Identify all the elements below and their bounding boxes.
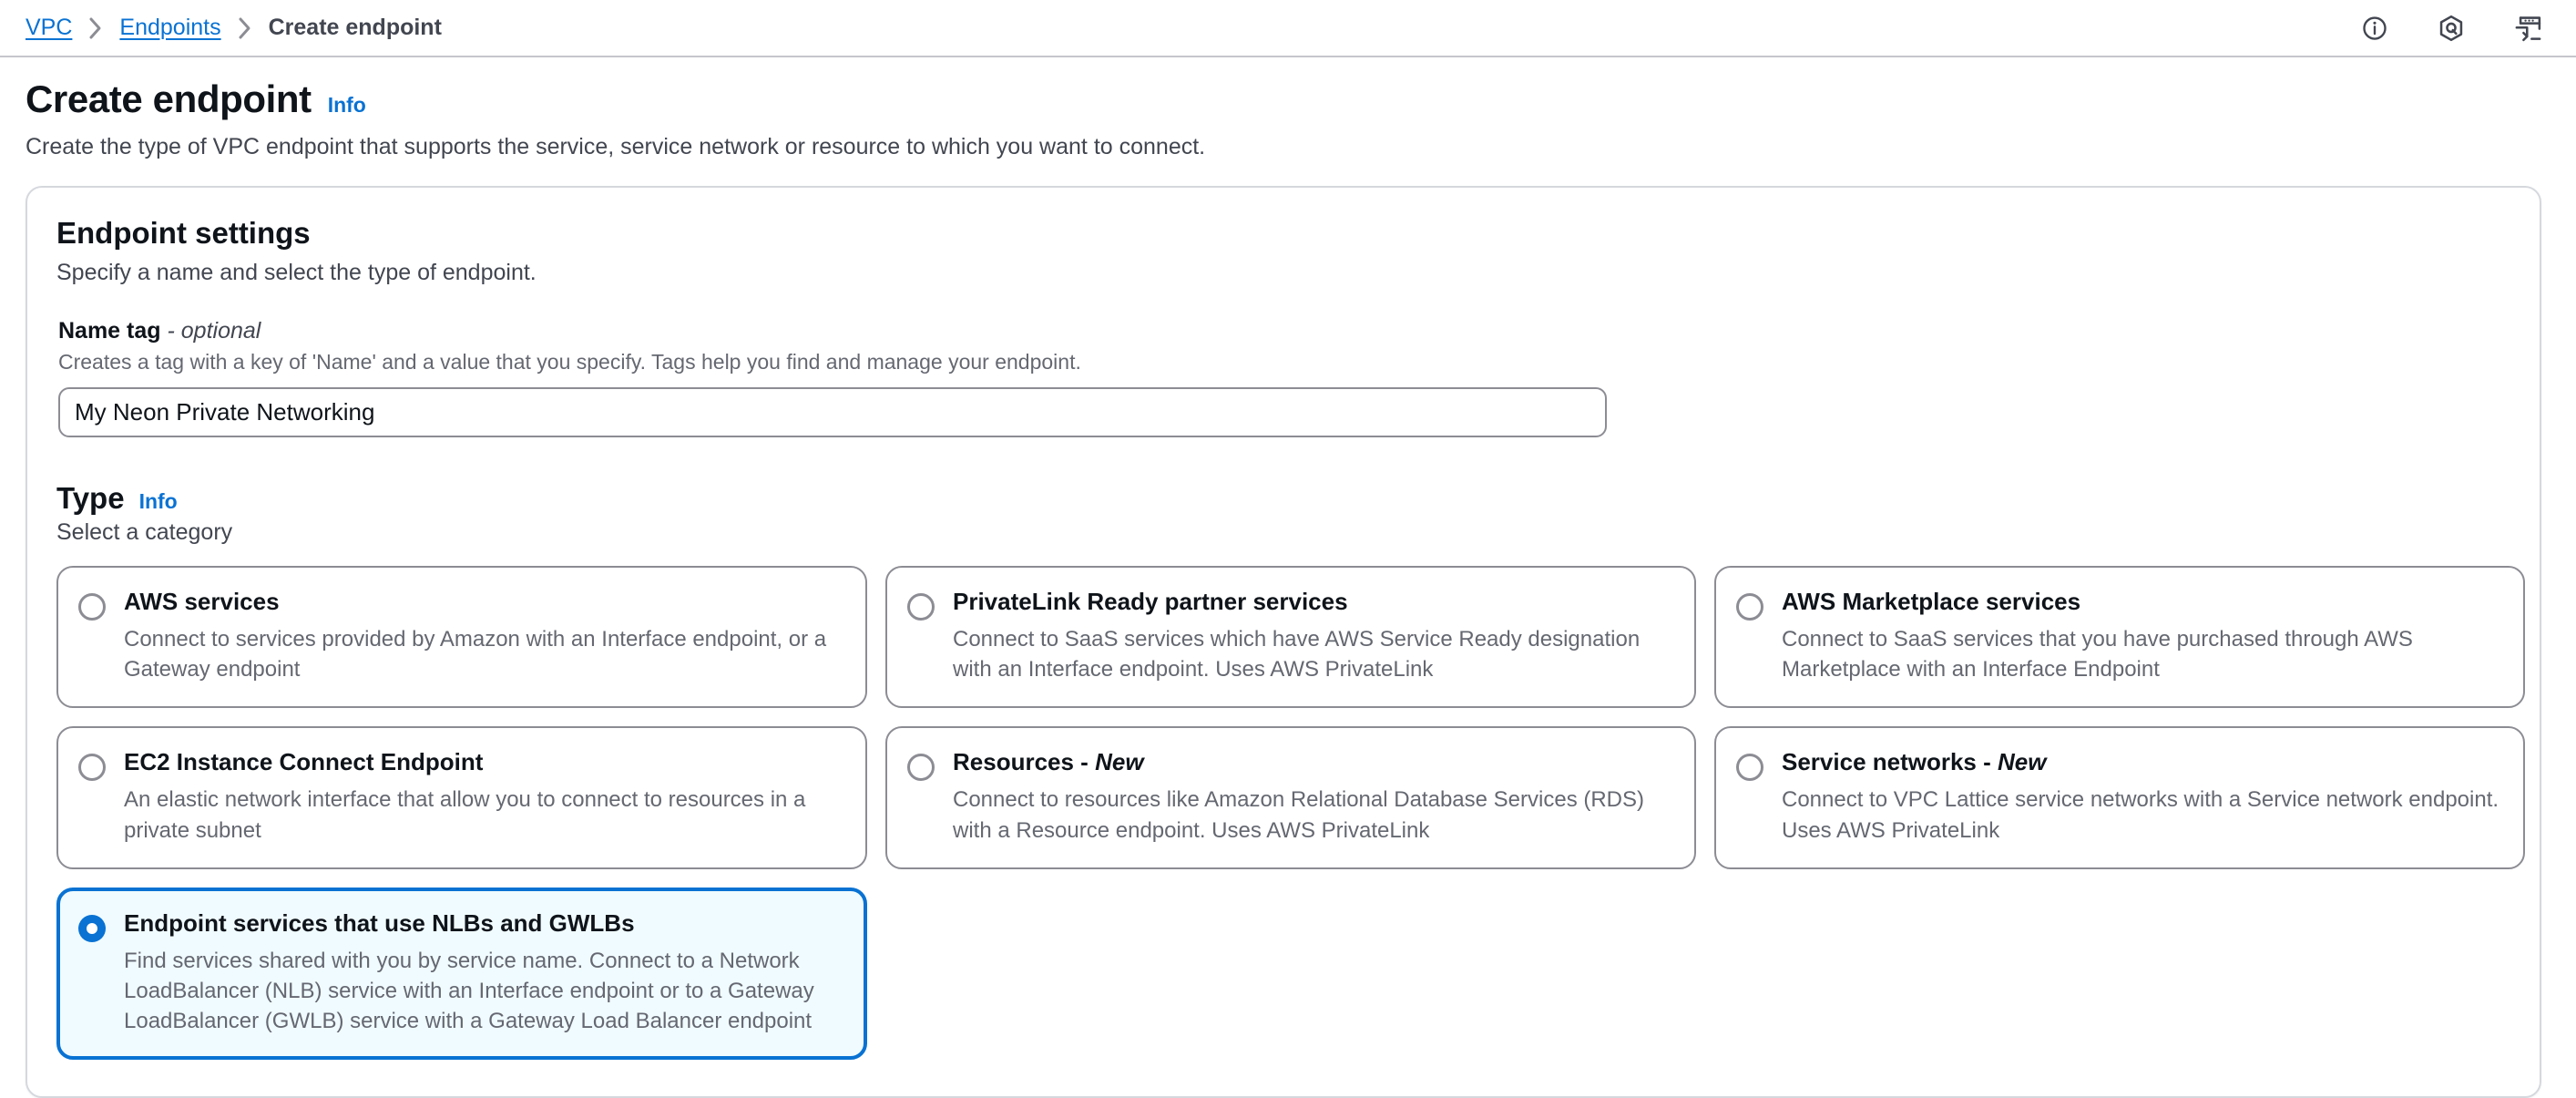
- radio-icon[interactable]: [907, 754, 935, 781]
- type-option-resources[interactable]: Resources - New Connect to resources lik…: [885, 726, 1696, 868]
- type-option-body: PrivateLink Ready partner services Conne…: [953, 588, 1672, 684]
- radio-icon[interactable]: [78, 593, 106, 621]
- breadcrumb-item-endpoints[interactable]: Endpoints: [119, 15, 220, 41]
- type-option-label: Endpoint services that use NLBs and GWLB…: [124, 909, 843, 938]
- page-header: Create endpoint Info Create the type of …: [0, 57, 2576, 163]
- aws-q-hexagon-icon[interactable]: [2436, 13, 2467, 44]
- type-title-row: Type Info: [56, 481, 2510, 516]
- radio-icon[interactable]: [78, 754, 106, 781]
- name-tag-optional-suffix: - optional: [168, 318, 261, 344]
- type-option-ec2-instance-connect-endpoint[interactable]: EC2 Instance Connect Endpoint An elastic…: [56, 726, 867, 868]
- name-tag-input[interactable]: [58, 387, 1607, 437]
- page-info-link[interactable]: Info: [328, 93, 366, 118]
- type-option-label-text: Service networks -: [1782, 748, 1991, 775]
- type-option-aws-marketplace-services[interactable]: AWS Marketplace services Connect to SaaS…: [1714, 566, 2525, 708]
- type-option-label: AWS services: [124, 588, 843, 616]
- type-option-body: AWS Marketplace services Connect to SaaS…: [1782, 588, 2501, 684]
- radio-icon[interactable]: [1736, 754, 1763, 781]
- type-description: Select a category: [56, 519, 2510, 546]
- endpoint-settings-panel: Endpoint settings Specify a name and sel…: [26, 186, 2541, 1098]
- radio-icon[interactable]: [1736, 593, 1763, 621]
- type-option-description: Connect to SaaS services which have AWS …: [953, 624, 1672, 684]
- panel-description: Specify a name and select the type of en…: [56, 260, 2510, 286]
- type-title: Type: [56, 481, 125, 516]
- breadcrumb-item-vpc[interactable]: VPC: [26, 15, 72, 41]
- breadcrumb-separator-icon: [238, 16, 252, 40]
- type-option-body: AWS services Connect to services provide…: [124, 588, 843, 684]
- type-option-description: Connect to services provided by Amazon w…: [124, 624, 843, 684]
- type-option-label: AWS Marketplace services: [1782, 588, 2501, 616]
- name-tag-field-group: Name tag - optional Creates a tag with a…: [56, 318, 2510, 437]
- page-title: Create endpoint: [26, 77, 312, 121]
- type-option-body: Service networks - New Connect to VPC La…: [1782, 748, 2501, 845]
- type-option-description: Connect to SaaS services that you have p…: [1782, 624, 2501, 684]
- radio-icon-selected[interactable]: [78, 915, 106, 942]
- panel-title: Endpoint settings: [56, 215, 2510, 251]
- name-tag-label: Name tag - optional: [58, 318, 2510, 344]
- type-option-body: EC2 Instance Connect Endpoint An elastic…: [124, 748, 843, 845]
- type-option-new-badge: New: [1095, 748, 1143, 775]
- type-option-label: PrivateLink Ready partner services: [953, 588, 1672, 616]
- type-option-description: Connect to VPC Lattice service networks …: [1782, 785, 2501, 845]
- type-option-label: Resources - New: [953, 748, 1672, 776]
- type-option-label: EC2 Instance Connect Endpoint: [124, 748, 843, 776]
- type-section: Type Info Select a category AWS services…: [56, 481, 2510, 1060]
- type-option-description: An elastic network interface that allow …: [124, 785, 843, 845]
- radio-icon[interactable]: [907, 593, 935, 621]
- breadcrumb-separator-icon: [88, 16, 103, 40]
- name-tag-hint: Creates a tag with a key of 'Name' and a…: [58, 350, 2510, 375]
- top-navigation-bar: VPC Endpoints Create endpoint: [0, 0, 2576, 57]
- name-tag-label-text: Name tag: [58, 318, 161, 344]
- type-option-description: Find services shared with you by service…: [124, 946, 843, 1036]
- type-option-privatelink-ready-partner-services[interactable]: PrivateLink Ready partner services Conne…: [885, 566, 1696, 708]
- type-option-label: Service networks - New: [1782, 748, 2501, 776]
- type-option-body: Resources - New Connect to resources lik…: [953, 748, 1672, 845]
- topbar-actions: [2359, 13, 2543, 44]
- type-option-endpoint-services-nlb-gwlb[interactable]: Endpoint services that use NLBs and GWLB…: [56, 888, 867, 1061]
- page-title-row: Create endpoint Info: [26, 77, 2550, 121]
- type-option-new-badge: New: [1998, 748, 2046, 775]
- type-option-grid: AWS services Connect to services provide…: [56, 566, 2510, 1060]
- type-option-body: Endpoint services that use NLBs and GWLB…: [124, 909, 843, 1037]
- type-option-service-networks[interactable]: Service networks - New Connect to VPC La…: [1714, 726, 2525, 868]
- breadcrumb: VPC Endpoints Create endpoint: [26, 15, 442, 41]
- breadcrumb-item-create-endpoint: Create endpoint: [269, 15, 442, 41]
- type-option-description: Connect to resources like Amazon Relatio…: [953, 785, 1672, 845]
- type-option-label-text: Resources -: [953, 748, 1089, 775]
- type-option-aws-services[interactable]: AWS services Connect to services provide…: [56, 566, 867, 708]
- type-info-link[interactable]: Info: [139, 489, 178, 514]
- cloudshell-terminal-icon[interactable]: [2512, 13, 2543, 44]
- info-icon[interactable]: [2359, 13, 2390, 44]
- page-description: Create the type of VPC endpoint that sup…: [26, 131, 2550, 163]
